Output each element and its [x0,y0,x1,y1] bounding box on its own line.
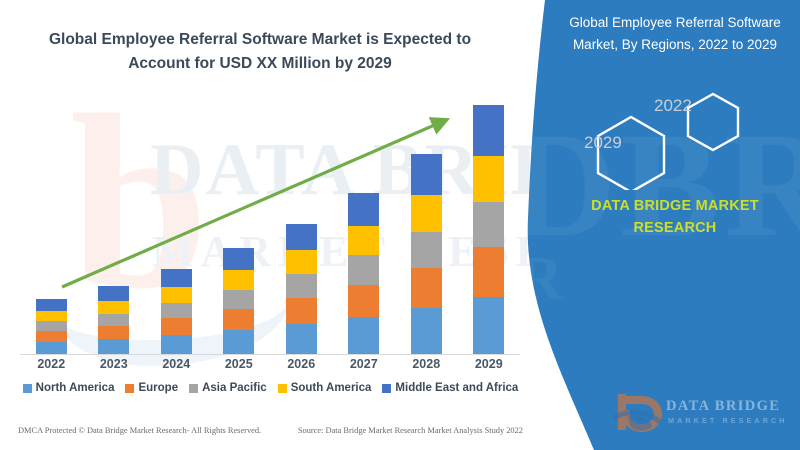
hexagon-2029 [598,117,664,190]
right-panel: DBR R Global Employee Referral Software … [548,0,800,450]
dbmr-logo-subword: MARKET RESEARCH [668,416,788,425]
dbmr-logo: DATA BRIDGE MARKET RESEARCH [608,392,778,438]
dbmr-logo-word: DATA BRIDGE [666,398,780,415]
brand-name: DATA BRIDGE MARKET RESEARCH [554,196,796,240]
hexagon-2029-label: 2029 [584,133,622,153]
panel-title: Global Employee Referral Software Market… [552,12,798,55]
hexagon-2022-label: 2022 [654,96,692,116]
infographic-canvas: b DATA BRIDGE MARKET RESEARCH Global Emp… [0,0,800,450]
hexagon-2022 [688,94,738,150]
